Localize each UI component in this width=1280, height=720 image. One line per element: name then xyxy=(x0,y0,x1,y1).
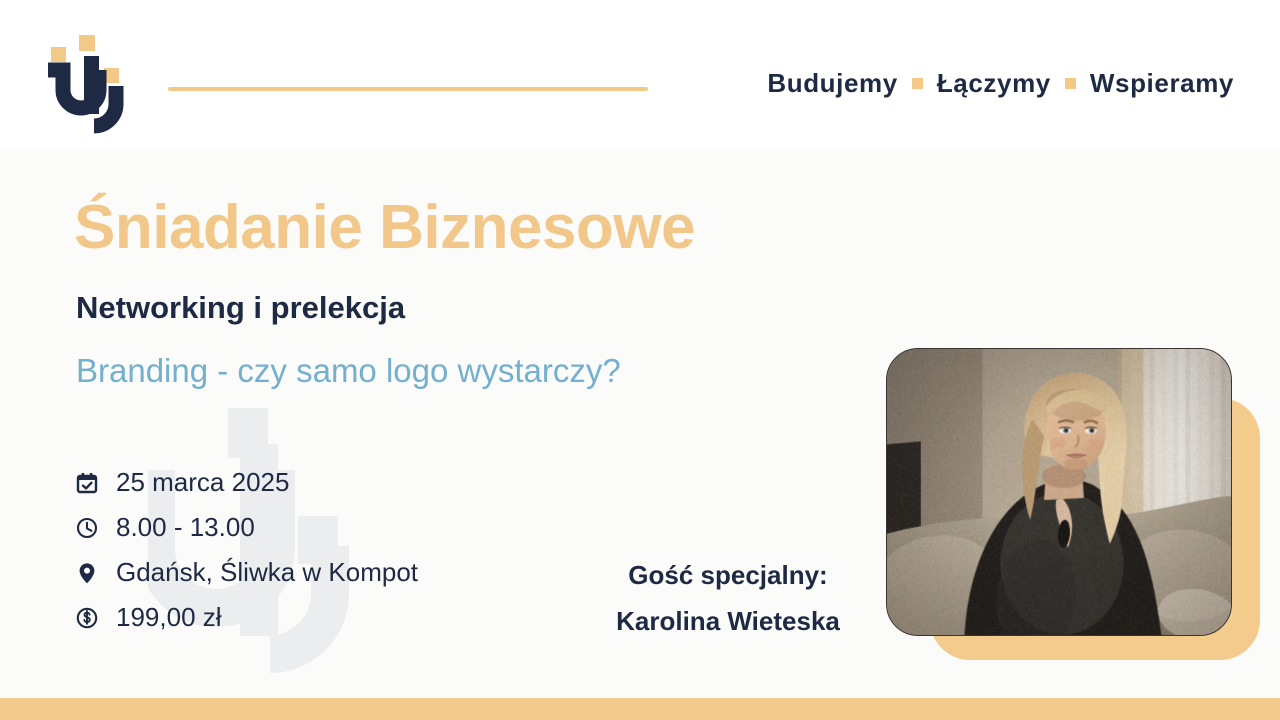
page-subtitle: Networking i prelekcja xyxy=(76,290,405,326)
tagline-word-1: Budujemy xyxy=(767,68,897,99)
detail-row-date: 25 marca 2025 xyxy=(74,460,418,505)
gold-footer-bar-icon xyxy=(0,698,1280,720)
gold-divider-line-icon xyxy=(168,87,648,91)
speaker-portrait xyxy=(886,348,1232,636)
ui-monogram-logo-icon xyxy=(38,34,130,138)
clock-icon xyxy=(74,515,100,541)
guest-intro-label: Gość specjalny: xyxy=(578,552,878,598)
event-poster: Budujemy Łączymy Wspieramy Śniadanie Biz… xyxy=(0,0,1280,720)
poster-header: Budujemy Łączymy Wspieramy xyxy=(0,0,1280,148)
guest-name-label: Karolina Wieteska xyxy=(578,598,878,644)
detail-row-time: 8.00 - 13.00 xyxy=(74,505,418,550)
speaker-portrait-image xyxy=(887,349,1231,635)
detail-label-date: 25 marca 2025 xyxy=(116,467,289,498)
detail-label-price: 199,00 zł xyxy=(116,602,222,633)
gold-square-bullet-icon xyxy=(912,78,923,89)
guest-speaker-block: Gość specjalny: Karolina Wieteska xyxy=(578,552,878,644)
calendar-check-icon xyxy=(74,470,100,496)
tagline: Budujemy Łączymy Wspieramy xyxy=(767,68,1234,99)
gold-square-bullet-icon xyxy=(1065,78,1076,89)
detail-label-time: 8.00 - 13.00 xyxy=(116,512,255,543)
dollar-circle-icon xyxy=(74,605,100,631)
detail-row-location: Gdańsk, Śliwka w Kompot xyxy=(74,550,418,595)
detail-label-location: Gdańsk, Śliwka w Kompot xyxy=(116,557,418,588)
detail-row-price: 199,00 zł xyxy=(74,595,418,640)
tagline-word-3: Wspieramy xyxy=(1090,68,1234,99)
lecture-topic: Branding - czy samo logo wystarczy? xyxy=(76,352,621,390)
map-pin-icon xyxy=(74,560,100,586)
page-title: Śniadanie Biznesowe xyxy=(74,192,695,263)
event-details-list: 25 marca 2025 8.00 - 13.00 Gdańsk, Śliwk… xyxy=(74,460,418,640)
tagline-word-2: Łączymy xyxy=(937,68,1051,99)
